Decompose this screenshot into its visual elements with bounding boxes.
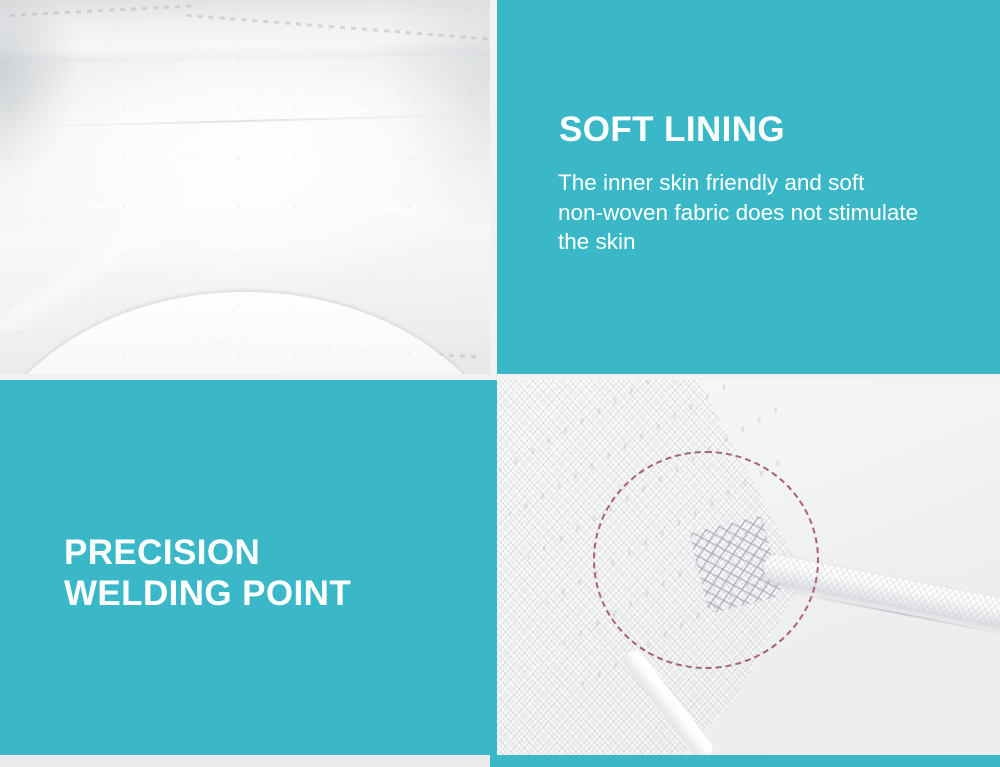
photo-panel-soft-lining <box>0 0 490 374</box>
soft-lining-description: The inner skin friendly and soft non-wov… <box>558 168 1000 257</box>
welding-point-highlight-circle <box>593 451 819 669</box>
soft-lining-headline: SOFT LINING <box>559 110 785 151</box>
panel-divider-bottom-right <box>490 755 1000 767</box>
panel-divider-vertical <box>490 380 497 755</box>
photo-panel-welding-point <box>497 380 1000 755</box>
mask-fabric-texture <box>0 0 490 374</box>
welding-point-photo <box>497 380 1000 755</box>
mask-lining-photo <box>0 0 490 374</box>
product-feature-collage: 5732304 SOFT LINING The inner skin frien… <box>0 0 1000 767</box>
panel-divider-bottom-left <box>0 755 490 767</box>
precision-welding-point-headline: PRECISION WELDING POINT <box>64 533 351 614</box>
